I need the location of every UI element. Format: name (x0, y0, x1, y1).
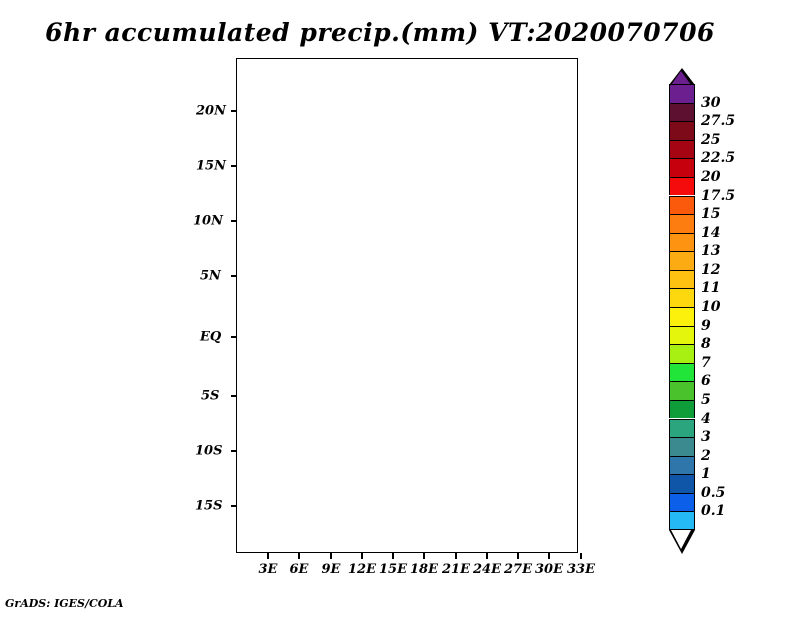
colorbar-tick-label: 7 (701, 355, 711, 371)
colorbar-tick-label: 30 (701, 95, 720, 111)
colorbar-band (669, 437, 695, 456)
map-panel (236, 58, 578, 553)
x-tick-label: 3E (259, 562, 278, 577)
colorbar-tick-label: 4 (701, 411, 711, 427)
colorbar-band (669, 214, 695, 233)
colorbar-tick-label: 6 (701, 373, 711, 389)
colorbar-band (669, 456, 695, 475)
colorbar-tick-label: 25 (701, 132, 720, 148)
colorbar-band (669, 177, 695, 196)
colorbar-band (669, 363, 695, 382)
map-frame (236, 58, 578, 553)
x-tick-label: 18E (410, 562, 438, 577)
x-tick-label: 9E (322, 562, 341, 577)
colorbar-band (669, 140, 695, 159)
colorbar-tick-label: 10 (701, 299, 720, 315)
y-tick-label: 10N (193, 214, 223, 229)
colorbar-band (669, 474, 695, 493)
y-tick-label: 20N (196, 104, 226, 119)
x-tick-label: 30E (535, 562, 563, 577)
x-tick-label: 6E (290, 562, 309, 577)
colorbar-tick-label: 2 (701, 448, 711, 464)
page-title: 6hr accumulated precip.(mm) VT:202007070… (0, 18, 760, 47)
colorbar-tick-label: 8 (701, 336, 711, 352)
colorbar-band (669, 196, 695, 215)
grads-credit: GrADS: IGES/COLA (5, 597, 124, 610)
colorbar-band (669, 381, 695, 400)
grads-figure: 6hr accumulated precip.(mm) VT:202007070… (0, 0, 800, 618)
x-tick-label: 27E (504, 562, 532, 577)
colorbar-tick-label: 9 (701, 318, 711, 334)
colorbar-tick-label: 15 (701, 206, 720, 222)
y-tick-label: 5S (201, 389, 219, 404)
colorbar-tick-label: 3 (701, 429, 711, 445)
y-tick-label: 10S (195, 444, 222, 459)
colorbar-band (669, 103, 695, 122)
colorbar-band (669, 251, 695, 270)
y-tick-label: 5N (200, 269, 221, 284)
colorbar-tick-label: 13 (701, 243, 720, 259)
colorbar-band (669, 511, 695, 530)
colorbar-tick-label: 12 (701, 262, 720, 278)
x-tick-label: 21E (442, 562, 470, 577)
y-tick-label: 15S (195, 499, 222, 514)
colorbar-band (669, 400, 695, 419)
colorbar-tick-label: 0.5 (701, 485, 725, 501)
colorbar-under-arrow-fill (671, 530, 691, 549)
colorbar-band (669, 158, 695, 177)
colorbar-tick-label: 20 (701, 169, 720, 185)
x-tick-label: 33E (567, 562, 595, 577)
colorbar-tick-label: 14 (701, 225, 720, 241)
y-tick-label: EQ (200, 330, 221, 345)
colorbar-band (669, 121, 695, 140)
colorbar-tick-label: 0.1 (701, 503, 725, 519)
y-tick-label: 15N (196, 159, 226, 174)
colorbar-band (669, 344, 695, 363)
colorbar-band (669, 270, 695, 289)
colorbar-band (669, 307, 695, 326)
colorbar-band (669, 493, 695, 512)
colorbar-tick-label: 1 (701, 466, 711, 482)
x-tick-label: 15E (379, 562, 407, 577)
colorbar-band (669, 84, 695, 103)
colorbar (669, 84, 695, 530)
colorbar-tick-label: 5 (701, 392, 711, 408)
x-tick-label: 24E (473, 562, 501, 577)
colorbar-band (669, 326, 695, 345)
colorbar-band (669, 288, 695, 307)
colorbar-band (669, 233, 695, 252)
colorbar-tick-label: 11 (701, 280, 720, 296)
colorbar-tick-label: 22.5 (701, 150, 735, 166)
colorbar-tick-label: 27.5 (701, 113, 735, 129)
x-tick-label: 12E (348, 562, 376, 577)
colorbar-band (669, 419, 695, 438)
colorbar-tick-label: 17.5 (701, 188, 735, 204)
